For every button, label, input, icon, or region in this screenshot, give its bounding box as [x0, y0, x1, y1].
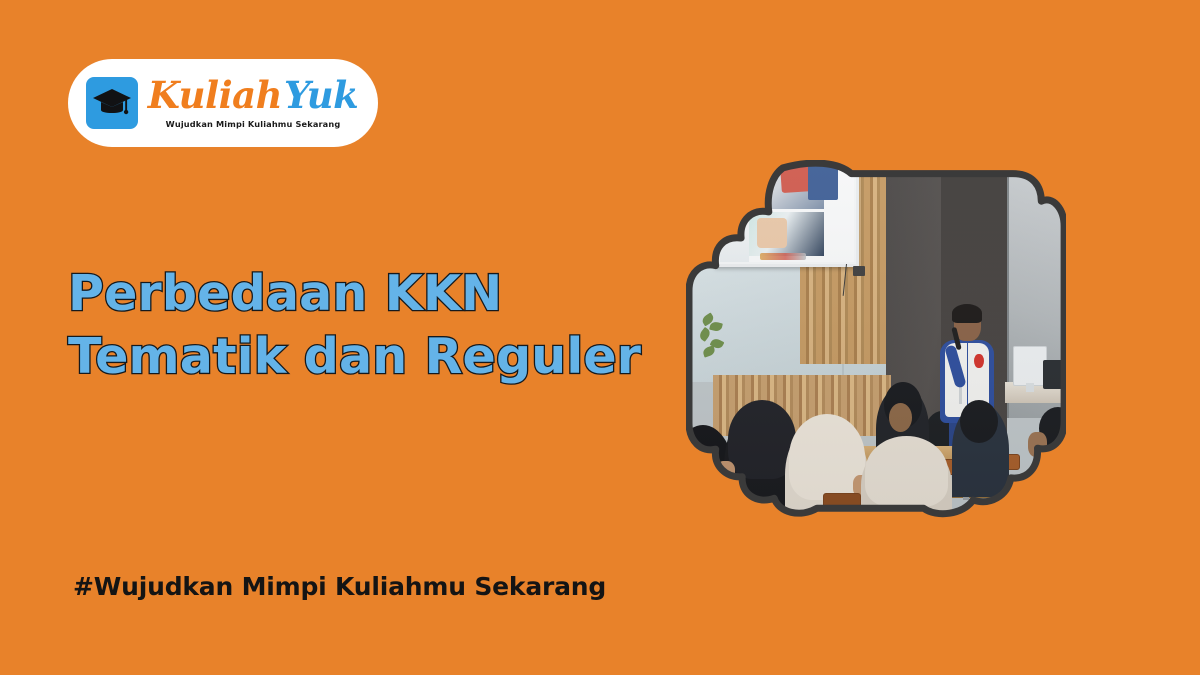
photo-frame: [686, 160, 1066, 518]
footer-hashtag: #Wujudkan Mimpi Kuliahmu Sekarang: [73, 572, 606, 601]
audience-head: [960, 400, 998, 443]
desk-equipment: [1043, 360, 1066, 389]
slide-caption-bar: [760, 253, 806, 260]
brand-logo-card[interactable]: KuliahYuk Wujudkan Mimpi Kuliahmu Sekara…: [68, 59, 378, 147]
chair-back: [823, 493, 861, 509]
brand-text-block: KuliahYuk Wujudkan Mimpi Kuliahmu Sekara…: [138, 77, 362, 130]
audience-face: [889, 403, 912, 432]
page-title: Perbedaan KKN Tematik dan Reguler: [68, 262, 708, 388]
right-wall-edge: [1007, 160, 1009, 418]
wordmark-yuk: Yuk: [284, 73, 358, 117]
audience-hijab: [865, 436, 949, 508]
brand-tagline: Wujudkan Mimpi Kuliahmu Sekarang: [166, 119, 341, 129]
presenter-hair: [952, 304, 982, 323]
graduation-cap-icon: [86, 77, 138, 129]
slide-accent-blue: [808, 165, 838, 199]
brand-wordmark: KuliahYuk: [148, 77, 358, 115]
potted-plant: [696, 310, 730, 367]
display-mount-bracket: [853, 266, 864, 277]
desk-monitor: [1013, 346, 1047, 385]
slide-accent-skin: [757, 218, 787, 248]
banner-canvas: KuliahYuk Wujudkan Mimpi Kuliahmu Sekara…: [0, 0, 1200, 675]
title-line-2: Tematik dan Reguler: [68, 325, 708, 388]
presenter-logo-badge: [974, 354, 983, 368]
title-line-1: Perbedaan KKN: [68, 262, 708, 325]
monitor-stand: [1026, 383, 1034, 392]
wordmark-kuliah: Kuliah: [148, 73, 282, 117]
